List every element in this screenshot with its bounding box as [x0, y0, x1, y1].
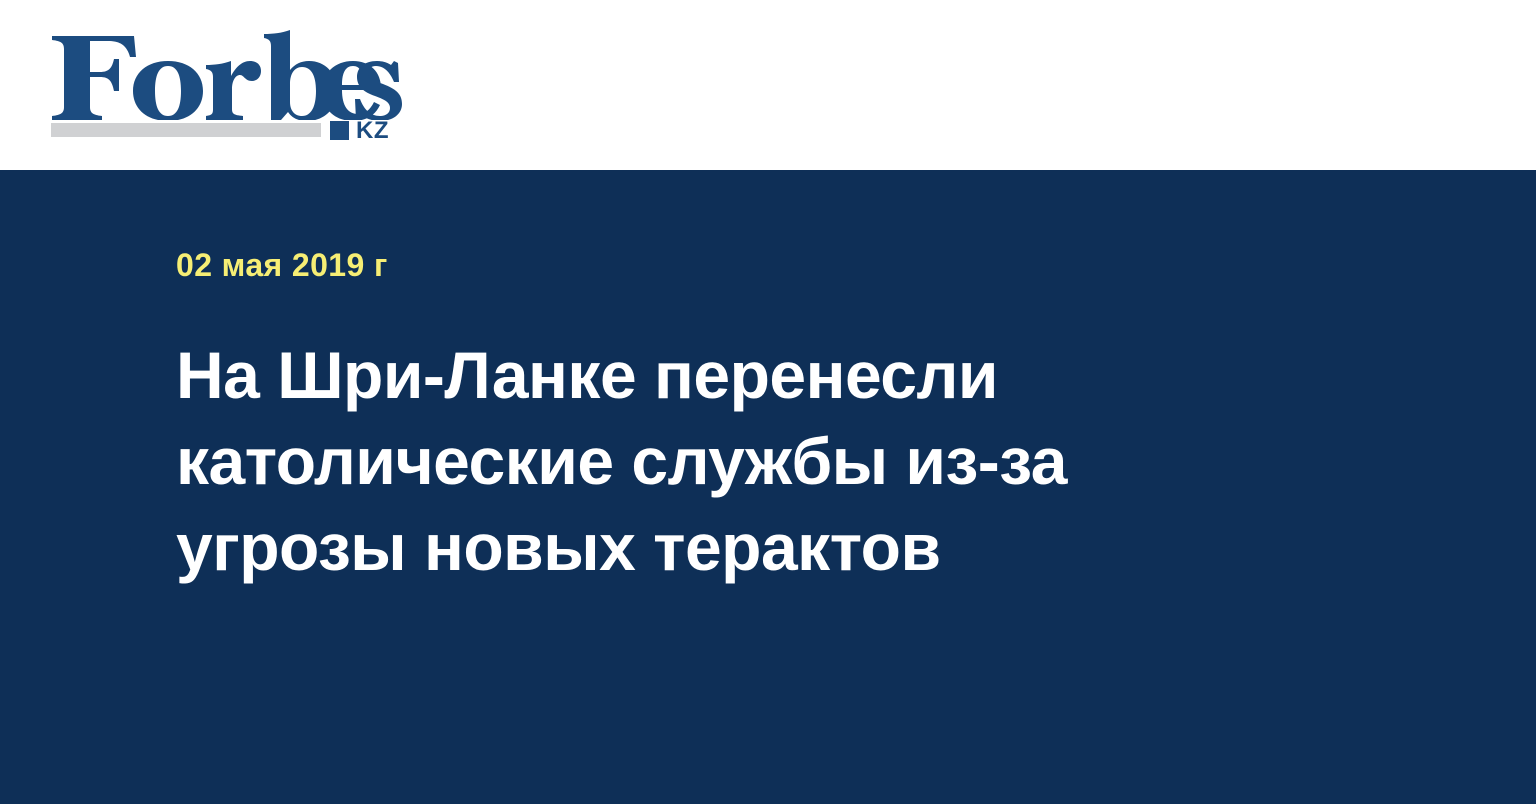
logo-underline-bar — [51, 123, 321, 137]
forbes-kz-logo-link[interactable]: KZ — [50, 24, 410, 142]
logo-kz-text: KZ — [356, 121, 389, 140]
article-headline: На Шри-Ланке перенесли католические служ… — [176, 284, 1161, 590]
logo-square-icon — [330, 121, 349, 140]
logo-kz-mark: KZ — [330, 120, 389, 140]
site-header: KZ — [0, 0, 1536, 170]
article-page: KZ 02 мая 2019 г На Шри-Ланке перенесли … — [0, 0, 1536, 804]
article-publish-date: 02 мая 2019 г — [176, 170, 1176, 284]
article-hero-content: 02 мая 2019 г На Шри-Ланке перенесли кат… — [176, 170, 1176, 590]
article-hero: 02 мая 2019 г На Шри-Ланке перенесли кат… — [0, 170, 1536, 804]
forbes-wordmark-icon — [50, 24, 402, 120]
